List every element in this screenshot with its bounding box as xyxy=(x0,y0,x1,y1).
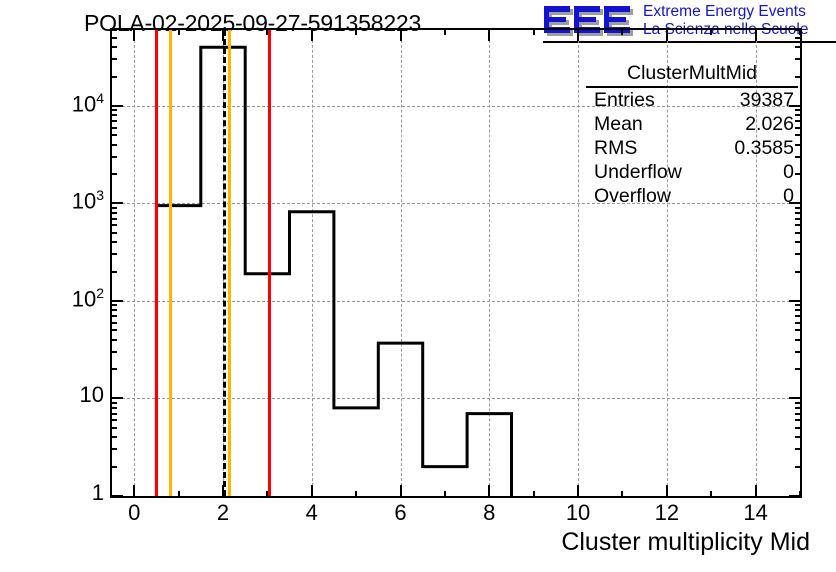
y-tick-minor xyxy=(110,37,117,39)
x-tick-minor-top xyxy=(710,28,712,35)
stats-key: Overflow xyxy=(594,184,671,208)
x-tick-label: 4 xyxy=(306,500,318,526)
x-tick-minor xyxy=(355,491,357,498)
y-tick-major xyxy=(110,202,123,204)
stats-row: RMS0.3585 xyxy=(586,136,798,160)
x-tick-minor xyxy=(444,491,446,498)
y-axis-labels: 110102103104 xyxy=(0,28,104,498)
y-tick-label: 103 xyxy=(72,187,104,214)
x-tick-minor-top xyxy=(266,28,268,35)
x-tick-minor-top xyxy=(533,28,535,35)
y-tick-minor xyxy=(110,466,117,468)
y-tick-minor xyxy=(110,76,117,78)
y-tick-minor xyxy=(110,309,117,311)
x-tick-major xyxy=(222,485,224,498)
x-tick-major-top xyxy=(400,28,402,41)
stats-key: Underflow xyxy=(594,160,682,184)
x-tick-major-top xyxy=(577,28,579,41)
y-tick-minor xyxy=(110,419,117,421)
y-tick-minor-right xyxy=(795,448,802,450)
y-tick-minor-right xyxy=(795,241,802,243)
y-tick-minor-right xyxy=(795,351,802,353)
y-tick-minor xyxy=(110,253,117,255)
y-tick-minor xyxy=(110,46,117,48)
x-tick-major-top xyxy=(488,28,490,41)
y-tick-minor-right xyxy=(795,427,802,429)
stats-value: 2.026 xyxy=(745,112,794,136)
x-tick-major xyxy=(311,485,313,498)
y-tick-major xyxy=(110,397,123,399)
y-tick-minor xyxy=(110,29,117,31)
y-tick-minor-right xyxy=(795,37,802,39)
y-tick-minor-right xyxy=(795,466,802,468)
stats-value: 0 xyxy=(783,160,794,184)
x-axis-labels: 02468101214 xyxy=(110,500,802,530)
y-tick-minor-right xyxy=(795,407,802,409)
x-tick-minor-top xyxy=(444,28,446,35)
y-tick-minor xyxy=(110,144,117,146)
x-tick-major-top xyxy=(666,28,668,41)
y-tick-minor xyxy=(110,351,117,353)
y-tick-label: 102 xyxy=(72,285,104,312)
y-tick-minor-right xyxy=(795,322,802,324)
x-tick-minor-top xyxy=(355,28,357,35)
y-tick-mantissa: 10 xyxy=(72,286,96,311)
y-tick-minor xyxy=(110,436,117,438)
stats-box: ClusterMultMid Entries39387Mean2.026RMS0… xyxy=(586,62,798,208)
y-tick-minor-right xyxy=(795,402,802,404)
y-tick-label: 1 xyxy=(92,480,104,506)
y-tick-exponent: 3 xyxy=(96,187,104,203)
y-tick-minor xyxy=(110,114,117,116)
x-tick-major-top xyxy=(222,28,224,41)
y-tick-minor xyxy=(110,127,117,129)
y-tick-major-right xyxy=(789,397,802,399)
y-tick-minor-right xyxy=(795,339,802,341)
x-tick-label: 12 xyxy=(655,500,679,526)
y-tick-minor-right xyxy=(795,218,802,220)
y-tick-minor-right xyxy=(795,304,802,306)
y-tick-minor xyxy=(110,413,117,415)
y-tick-minor-right xyxy=(795,224,802,226)
x-tick-minor-top xyxy=(799,28,801,35)
y-tick-minor-right xyxy=(795,368,802,370)
x-tick-major xyxy=(133,485,135,498)
y-tick-major xyxy=(110,105,123,107)
stats-value: 0.3585 xyxy=(734,136,794,160)
y-tick-minor xyxy=(110,407,117,409)
stats-row: Underflow0 xyxy=(586,160,798,184)
y-tick-minor-right xyxy=(795,271,802,273)
y-tick-minor-right xyxy=(795,413,802,415)
y-tick-label: 10 xyxy=(80,382,104,408)
x-tick-major xyxy=(755,485,757,498)
y-tick-mantissa: 10 xyxy=(72,91,96,116)
y-tick-minor-right xyxy=(795,46,802,48)
y-tick-minor xyxy=(110,304,117,306)
stats-row: Mean2.026 xyxy=(586,112,798,136)
x-tick-major xyxy=(577,485,579,498)
stats-value: 0 xyxy=(783,184,794,208)
y-tick-exponent: 2 xyxy=(96,285,104,301)
y-tick-minor xyxy=(110,271,117,273)
x-tick-minor xyxy=(178,491,180,498)
y-tick-minor xyxy=(110,368,117,370)
x-tick-major xyxy=(666,485,668,498)
x-tick-minor-top xyxy=(621,28,623,35)
y-tick-minor xyxy=(110,315,117,317)
y-tick-minor xyxy=(110,212,117,214)
x-tick-minor xyxy=(710,491,712,498)
y-tick-minor xyxy=(110,173,117,175)
x-tick-major-top xyxy=(755,28,757,41)
x-tick-minor xyxy=(533,491,535,498)
y-tick-minor-right xyxy=(795,309,802,311)
x-tick-major xyxy=(400,485,402,498)
stats-rows: Entries39387Mean2.026RMS0.3585Underflow0… xyxy=(586,88,798,208)
y-tick-minor-right xyxy=(795,232,802,234)
y-tick-minor xyxy=(110,134,117,136)
y-tick-minor xyxy=(110,427,117,429)
y-tick-label: 104 xyxy=(72,90,104,117)
y-tick-minor xyxy=(110,448,117,450)
stats-key: Mean xyxy=(594,112,643,136)
y-tick-minor-right xyxy=(795,315,802,317)
x-tick-major-top xyxy=(311,28,313,41)
y-tick-minor xyxy=(110,120,117,122)
x-tick-label: 14 xyxy=(743,500,767,526)
x-tick-label: 10 xyxy=(566,500,590,526)
stats-row: Entries39387 xyxy=(586,88,798,112)
x-axis-title: Cluster multiplicity Mid xyxy=(561,528,810,557)
stats-key: Entries xyxy=(594,88,655,112)
y-tick-minor-right xyxy=(795,329,802,331)
x-tick-minor xyxy=(266,491,268,498)
x-tick-minor xyxy=(799,491,801,498)
stats-key: RMS xyxy=(594,136,637,160)
stats-row: Overflow0 xyxy=(586,184,798,208)
y-tick-minor xyxy=(110,207,117,209)
x-tick-major xyxy=(488,485,490,498)
y-tick-minor-right xyxy=(795,436,802,438)
y-tick-minor xyxy=(110,109,117,111)
x-tick-minor xyxy=(621,491,623,498)
y-tick-exponent: 4 xyxy=(96,90,104,106)
y-tick-minor xyxy=(110,232,117,234)
y-tick-minor xyxy=(110,402,117,404)
y-tick-major xyxy=(110,495,123,497)
y-tick-major-right xyxy=(789,300,802,302)
root-canvas: POLA-02-2025-09-27-591358223 Extreme Ene… xyxy=(0,0,836,572)
y-tick-major xyxy=(110,300,123,302)
stats-value: 39387 xyxy=(740,88,794,112)
x-tick-label: 0 xyxy=(128,500,140,526)
y-tick-minor xyxy=(110,329,117,331)
x-tick-minor-top xyxy=(178,28,180,35)
y-tick-minor xyxy=(110,224,117,226)
stats-title: ClusterMultMid xyxy=(586,62,798,88)
x-tick-major-top xyxy=(133,28,135,41)
y-tick-minor xyxy=(110,322,117,324)
y-tick-minor-right xyxy=(795,212,802,214)
y-tick-minor xyxy=(110,241,117,243)
y-tick-minor xyxy=(110,156,117,158)
y-tick-minor xyxy=(110,339,117,341)
x-tick-label: 8 xyxy=(483,500,495,526)
x-tick-label: 2 xyxy=(217,500,229,526)
eee-logo-line1: Extreme Energy Events xyxy=(643,3,808,21)
x-tick-label: 6 xyxy=(394,500,406,526)
y-tick-minor-right xyxy=(795,253,802,255)
y-tick-minor xyxy=(110,58,117,60)
y-tick-minor-right xyxy=(795,419,802,421)
y-tick-mantissa: 10 xyxy=(72,189,96,214)
y-tick-minor xyxy=(110,218,117,220)
y-tick-minor-right xyxy=(795,58,802,60)
